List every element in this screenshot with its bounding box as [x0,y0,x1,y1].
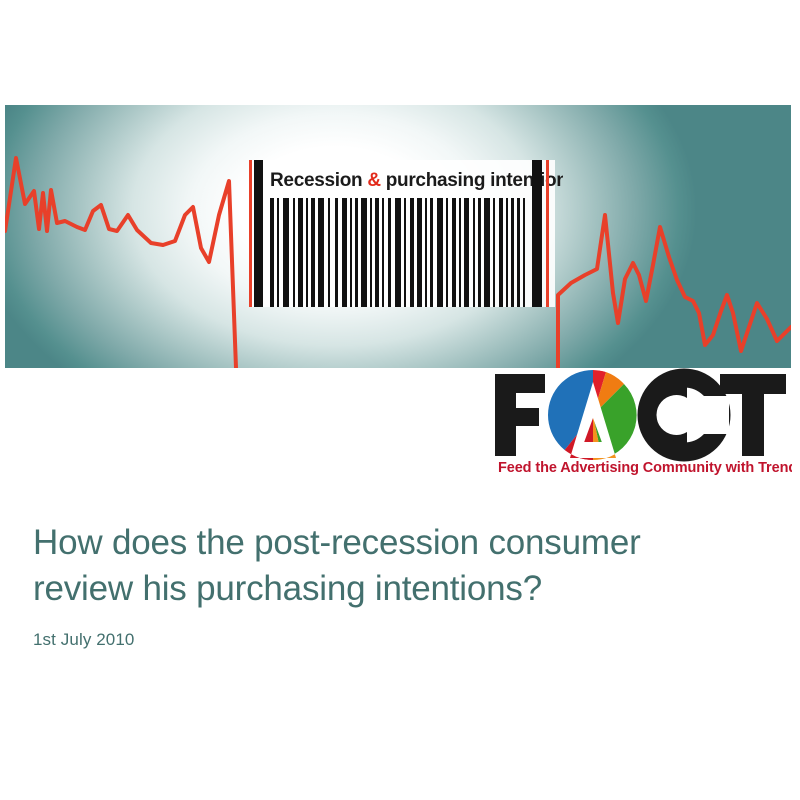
barcode-graphic: Recession & purchasing intention [243,160,563,307]
logo-letter-a-circle [543,370,636,462]
barcode-guard-right-red [546,160,549,307]
trendline-right-segment [558,215,791,368]
presentation-date: 1st July 2010 [33,630,763,650]
hero-banner: Recession & purchasing intention [5,105,791,368]
logo-tagline: Feed the Advertising Community with Tren… [498,460,792,476]
logo-letter-f [495,374,545,456]
barcode-guard-left-black [254,160,263,307]
slide-root: Recession & purchasing intention [0,0,800,800]
barcode-guard-left-red [249,160,252,307]
barcode-caption-part1: Recession [270,170,367,191]
trendline-left-segment [5,158,236,368]
barcode-guard-right-black [532,160,542,307]
page-title: How does the post-recession consumer rev… [33,520,763,612]
logo-letter-c [638,378,729,452]
title-block: How does the post-recession consumer rev… [33,520,763,650]
barcode-caption-amp: & [367,170,381,191]
barcode-caption: Recession & purchasing intention [270,170,563,191]
fact-logo: Feed the Advertising Community with Tren… [488,366,792,476]
